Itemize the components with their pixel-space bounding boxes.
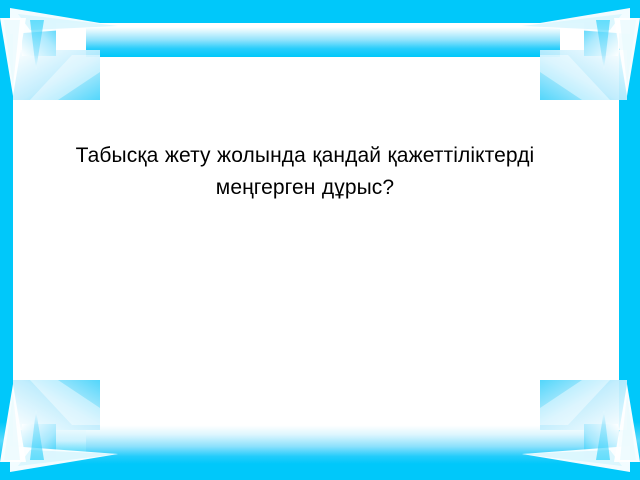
bottom-left-crystal-icon — [0, 360, 120, 480]
bottom-right-crystal-icon — [520, 360, 640, 480]
slide-body-text: Табысқа жету жолында қандай қажеттілікте… — [70, 140, 540, 204]
top-gloss-bar — [86, 27, 560, 57]
top-left-crystal-icon — [0, 0, 120, 120]
slide-canvas: Табысқа жету жолында қандай қажеттілікте… — [0, 0, 640, 480]
top-right-crystal-icon — [520, 0, 640, 120]
bottom-gloss-bar — [86, 422, 586, 464]
slide-text-block: Табысқа жету жолында қандай қажеттілікте… — [70, 140, 540, 204]
